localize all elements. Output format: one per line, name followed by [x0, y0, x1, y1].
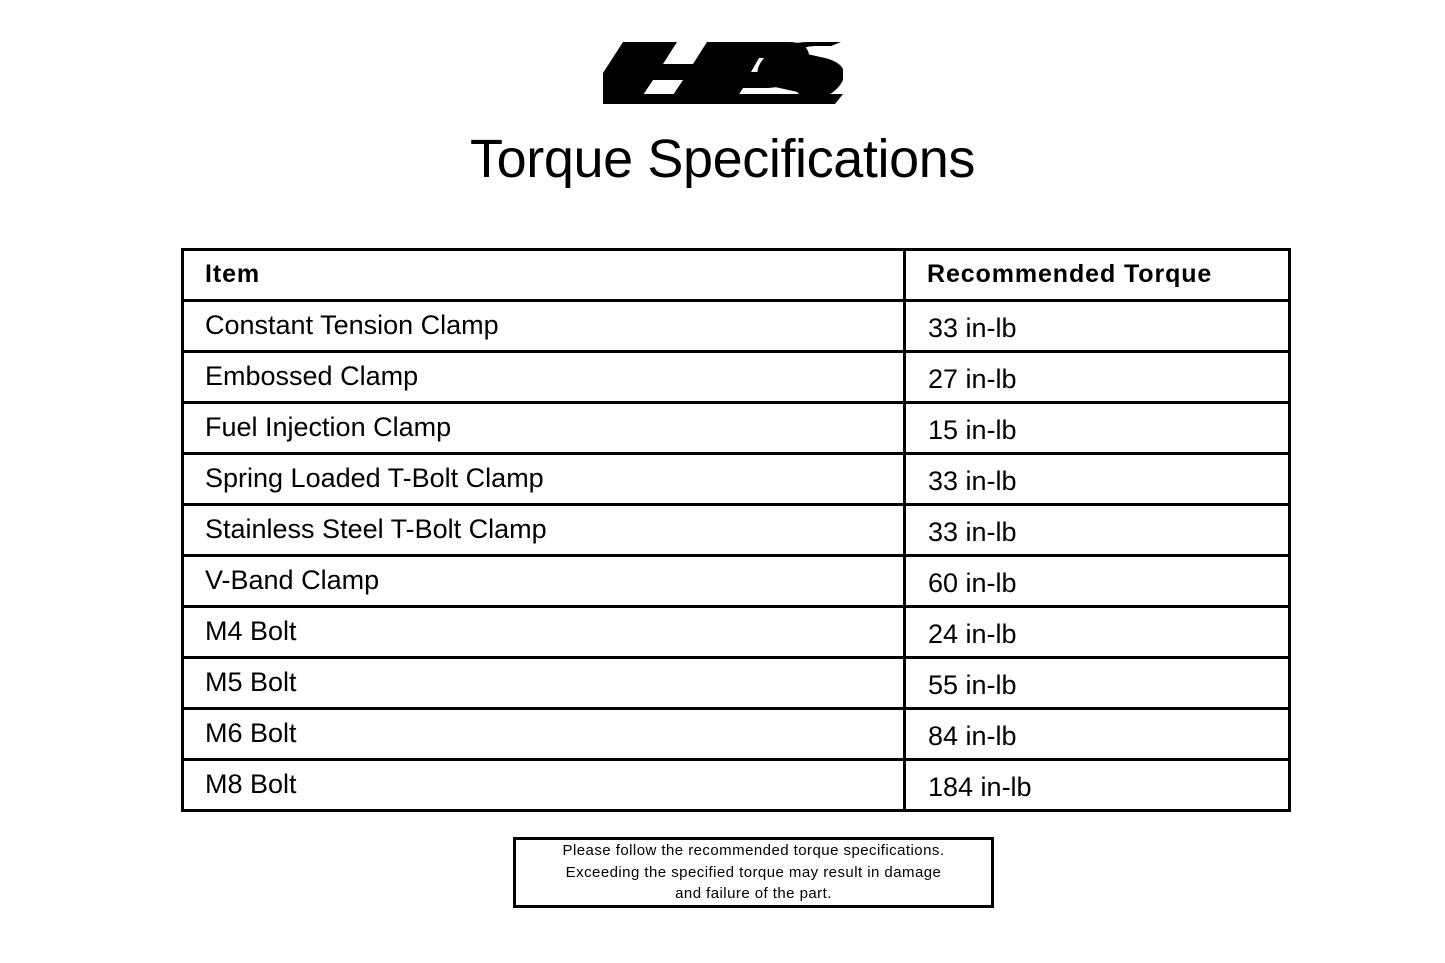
table-row: V-Band Clamp60 in-lb — [183, 556, 1290, 607]
cell-recommended-torque: 184 in-lb — [905, 760, 1290, 811]
torque-specifications-table: Item Recommended Torque Constant Tension… — [181, 248, 1288, 812]
torque-value: 184 in-lb — [928, 773, 1032, 803]
torque-value: 60 in-lb — [928, 569, 1017, 599]
hps-logo-icon — [603, 34, 843, 106]
torque-value: 24 in-lb — [928, 620, 1017, 650]
cell-recommended-torque: 55 in-lb — [905, 658, 1290, 709]
cell-recommended-torque: 15 in-lb — [905, 403, 1290, 454]
page-title: Torque Specifications — [0, 130, 1445, 188]
cell-item: Spring Loaded T-Bolt Clamp — [183, 454, 905, 505]
footer-note-line: and failure of the part. — [675, 883, 832, 905]
table-row: M6 Bolt84 in-lb — [183, 709, 1290, 760]
table-row: Stainless Steel T-Bolt Clamp33 in-lb — [183, 505, 1290, 556]
table-row: Spring Loaded T-Bolt Clamp33 in-lb — [183, 454, 1290, 505]
cell-recommended-torque: 33 in-lb — [905, 454, 1290, 505]
column-header-recommended-torque: Recommended Torque — [905, 250, 1290, 301]
cell-item: M4 Bolt — [183, 607, 905, 658]
hps-logo — [0, 34, 1445, 112]
cell-item: Constant Tension Clamp — [183, 301, 905, 352]
table-row: Fuel Injection Clamp15 in-lb — [183, 403, 1290, 454]
cell-item: M5 Bolt — [183, 658, 905, 709]
cell-item: Embossed Clamp — [183, 352, 905, 403]
table-row: Constant Tension Clamp33 in-lb — [183, 301, 1290, 352]
table-row: M8 Bolt184 in-lb — [183, 760, 1290, 811]
cell-recommended-torque: 60 in-lb — [905, 556, 1290, 607]
footer-warning-note: Please follow the recommended torque spe… — [513, 837, 994, 908]
table-body: Constant Tension Clamp33 in-lbEmbossed C… — [183, 301, 1290, 811]
column-header-item: Item — [183, 250, 905, 301]
cell-item: V-Band Clamp — [183, 556, 905, 607]
table-row: Embossed Clamp27 in-lb — [183, 352, 1290, 403]
torque-value: 84 in-lb — [928, 722, 1017, 752]
footer-note-line: Please follow the recommended torque spe… — [563, 840, 945, 862]
cell-recommended-torque: 33 in-lb — [905, 505, 1290, 556]
table-row: M5 Bolt55 in-lb — [183, 658, 1290, 709]
cell-item: M6 Bolt — [183, 709, 905, 760]
torque-value: 27 in-lb — [928, 365, 1017, 395]
table-row: M4 Bolt24 in-lb — [183, 607, 1290, 658]
cell-recommended-torque: 33 in-lb — [905, 301, 1290, 352]
cell-item: Fuel Injection Clamp — [183, 403, 905, 454]
cell-recommended-torque: 24 in-lb — [905, 607, 1290, 658]
cell-recommended-torque: 84 in-lb — [905, 709, 1290, 760]
footer-note-line: Exceeding the specified torque may resul… — [566, 862, 942, 884]
cell-item: Stainless Steel T-Bolt Clamp — [183, 505, 905, 556]
cell-item: M8 Bolt — [183, 760, 905, 811]
torque-value: 33 in-lb — [928, 518, 1017, 548]
torque-value: 33 in-lb — [928, 467, 1017, 497]
torque-value: 15 in-lb — [928, 416, 1017, 446]
table-header-row: Item Recommended Torque — [183, 250, 1290, 301]
torque-value: 33 in-lb — [928, 314, 1017, 344]
cell-recommended-torque: 27 in-lb — [905, 352, 1290, 403]
torque-value: 55 in-lb — [928, 671, 1017, 701]
